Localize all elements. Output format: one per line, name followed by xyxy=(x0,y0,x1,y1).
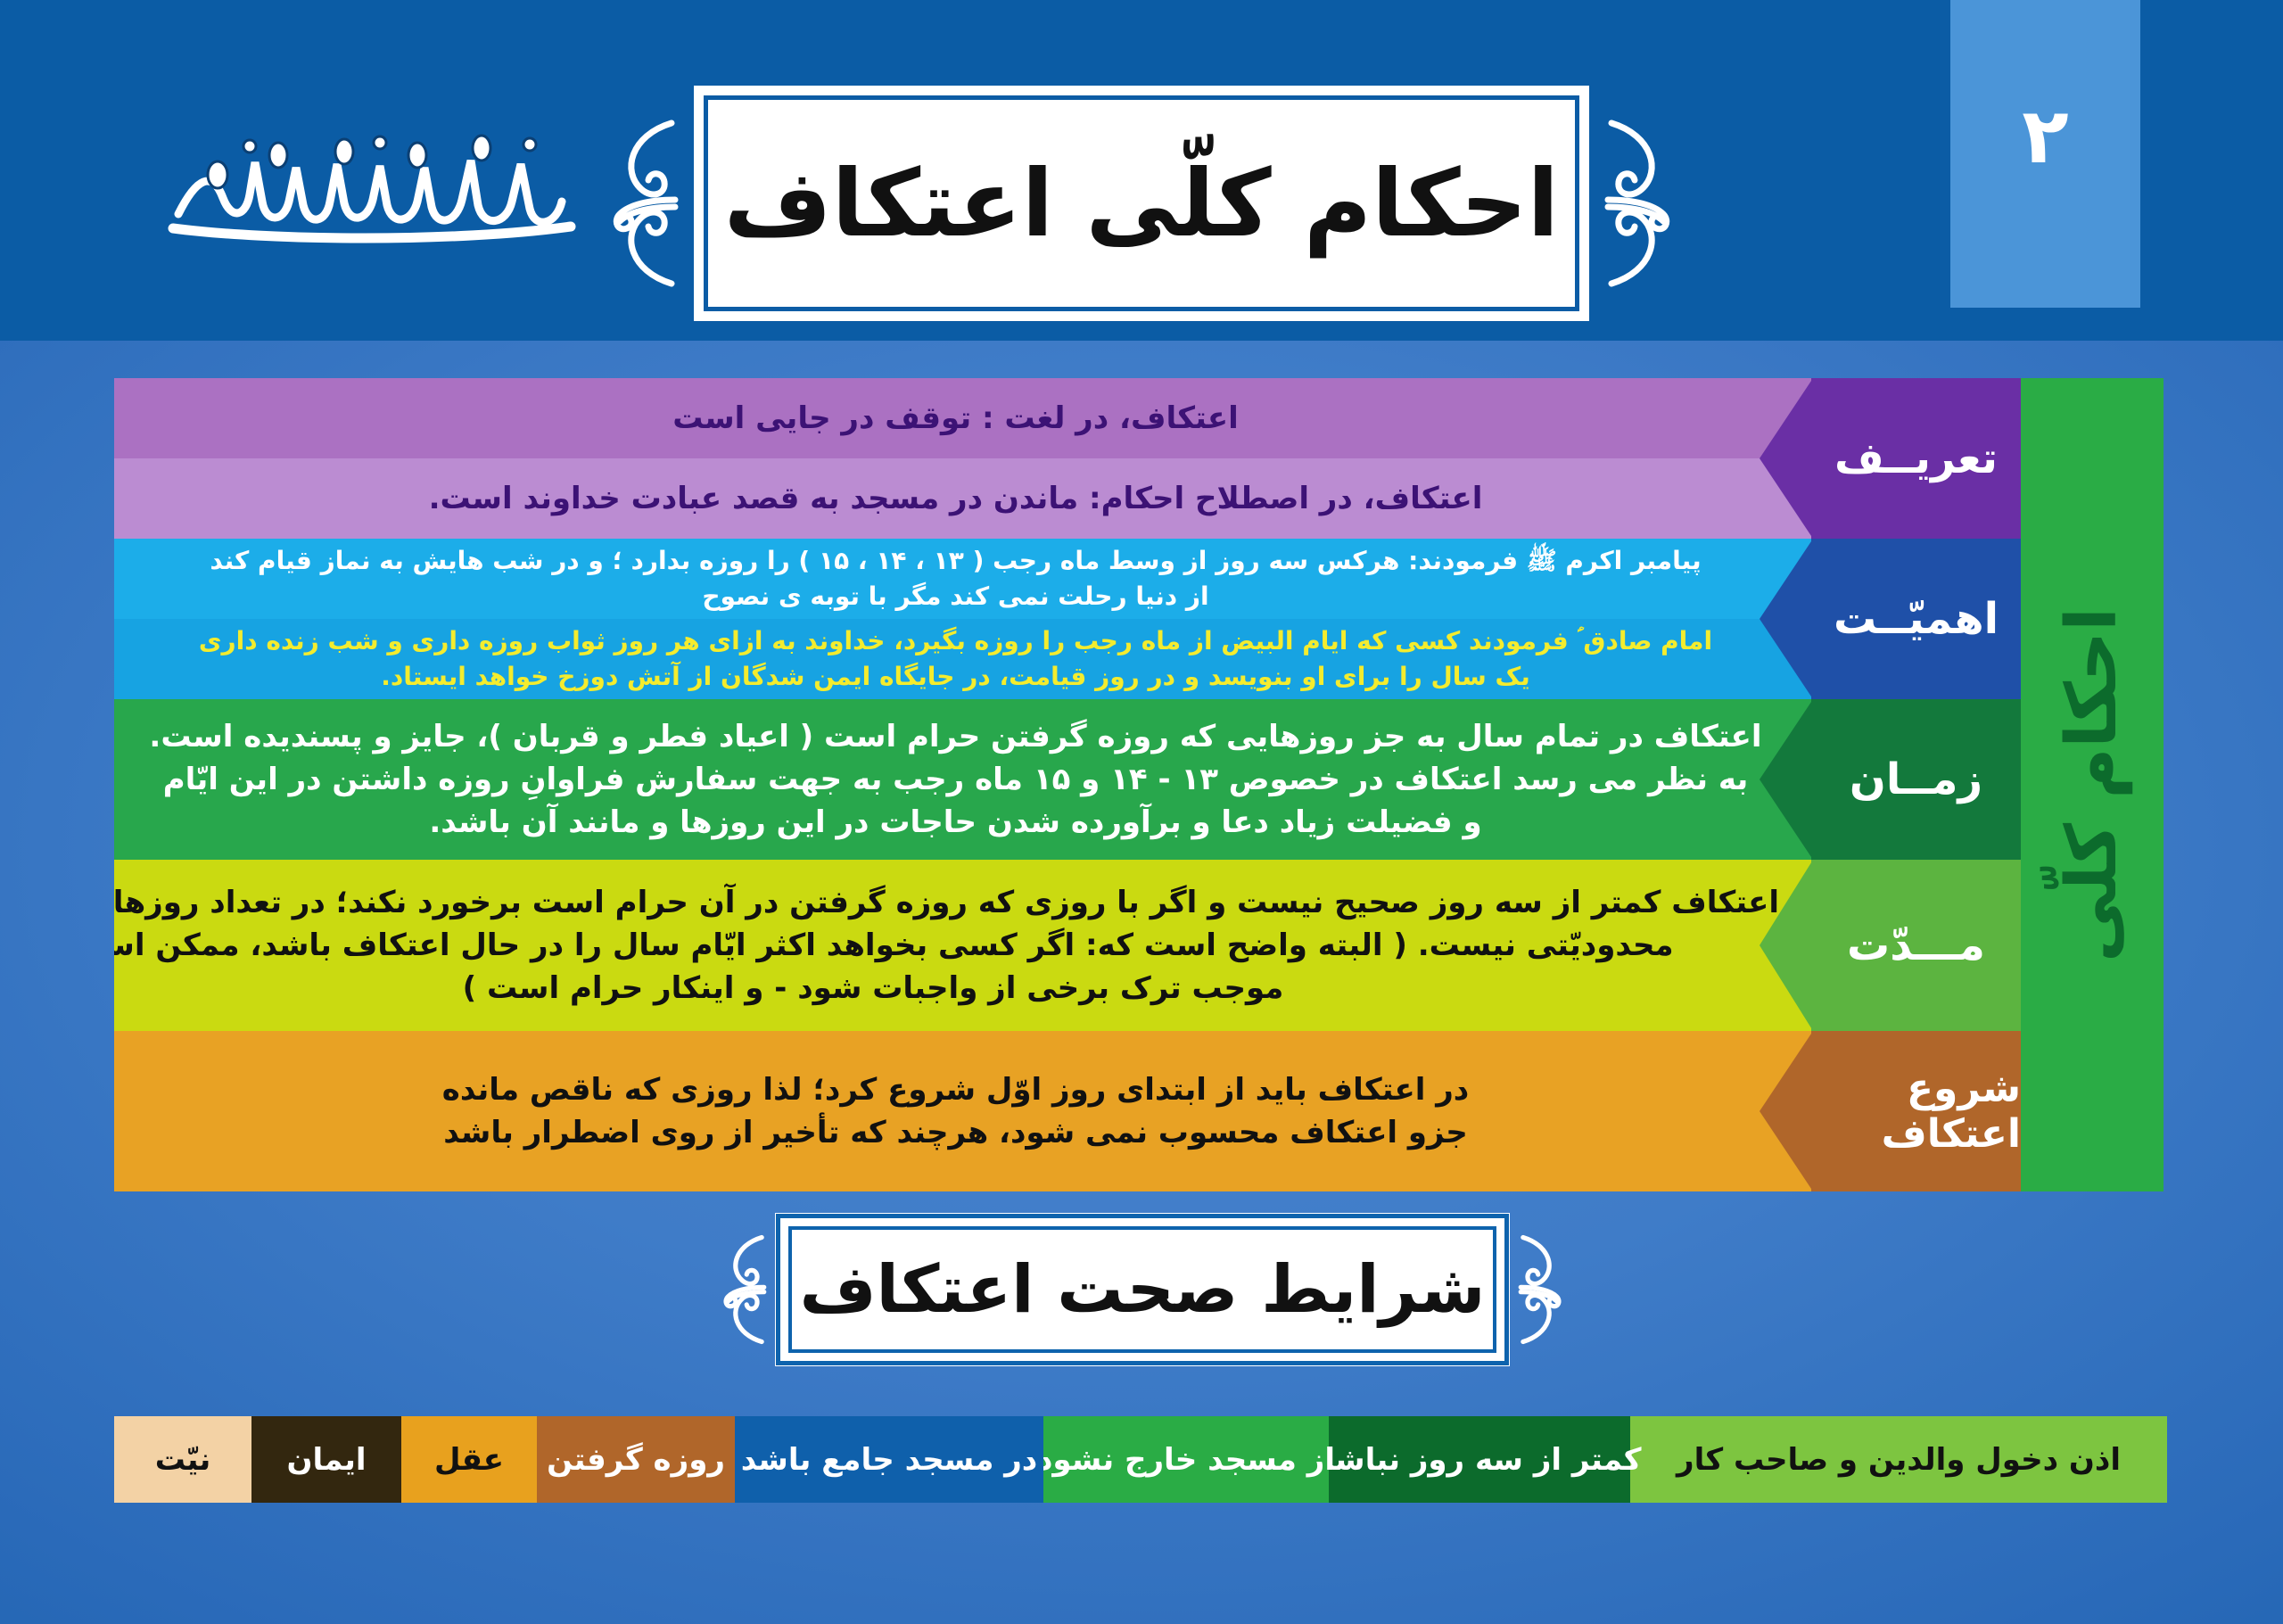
table-row-definition[interactable]: تعریــف اعتکاف، در لغت : توقف در جایی اس… xyxy=(114,378,2021,539)
row-body-importance-top: پیامبر اکرم ﷺ فرمودند: هرکس سه روز از وس… xyxy=(114,539,1811,619)
row-label-duration: مـــدّت xyxy=(1811,860,2021,1031)
condition-chip-no-exit[interactable]: از مسجد خارج نشود xyxy=(1043,1416,1329,1503)
row-line: از دنیا رحلت نمی کند مگر با توبه ی نصوح xyxy=(114,579,1811,614)
condition-label: نیّت xyxy=(155,1442,211,1478)
row-body-definition-top: اعتکاف، در لغت : توقف در جایی است xyxy=(114,378,1811,458)
row-line: و فضیلت زیاد دعا و برآورده شدن حاجات در … xyxy=(114,801,1811,844)
condition-label: ایمان xyxy=(287,1442,367,1478)
condition-chip-iman[interactable]: ایمان xyxy=(251,1416,401,1503)
condition-chip-permission[interactable]: اذن دخول والدین و صاحب کار xyxy=(1630,1416,2167,1503)
row-body-importance: پیامبر اکرم ﷺ فرمودند: هرکس سه روز از وس… xyxy=(114,539,1811,699)
condition-chip-fasting[interactable]: روزه گرفتن xyxy=(537,1416,735,1503)
condition-label: از مسجد خارج نشود xyxy=(1037,1442,1335,1478)
row-body-duration: اعتکاف کمتر از سه روز صحیح نیست و اگر با… xyxy=(114,860,1811,1031)
flourish-left-icon xyxy=(709,1232,779,1348)
row-label-time: زمــان xyxy=(1811,699,2021,860)
main-title-inner: احکام کلّی اعتکاف xyxy=(704,95,1579,311)
row-body-time: اعتکاف در تمام سال به جز روزهایی که روزه… xyxy=(114,699,1811,860)
page-number-badge: ۲ xyxy=(1950,0,2140,308)
row-line: به نظر می رسد اعتکاف در خصوص ۱۳ - ۱۴ و ۱… xyxy=(114,758,1811,801)
subtitle-inner: شرایط صحت اعتکاف xyxy=(788,1226,1496,1353)
row-line: در اعتکاف باید از ابتدای روز اوّل شروع ک… xyxy=(114,1068,1811,1111)
table-rows: تعریــف اعتکاف، در لغت : توقف در جایی اس… xyxy=(114,378,2021,1191)
condition-chip-niyyat[interactable]: نیّت xyxy=(114,1416,251,1503)
row-line: موجب ترک برخی از واجبات شود - و اینکار ح… xyxy=(114,967,1811,1010)
condition-label: در مسجد جامع باشد xyxy=(741,1442,1037,1478)
subtitle-plaque: شرایط صحت اعتکاف xyxy=(780,1218,1504,1361)
row-body-importance-bottom: امام صادق ؑ فرمودند کسی که ایام البیض از… xyxy=(114,619,1811,699)
row-label-start: شروع اعتکاف xyxy=(1811,1031,2021,1191)
row-label-definition: تعریــف xyxy=(1811,378,2021,539)
table-row-start[interactable]: شروع اعتکاف در اعتکاف باید از ابتدای روز… xyxy=(114,1031,2021,1191)
condition-label: روزه گرفتن xyxy=(547,1442,725,1478)
bismillah-calligraphy-icon xyxy=(161,116,589,259)
page-title: احکام کلّی اعتکاف xyxy=(724,149,1559,258)
flourish-right-icon xyxy=(1590,114,1688,293)
row-line: یک سال را برای او بنویسد و در روز قیامت،… xyxy=(114,659,1811,695)
row-line: اعتکاف، در لغت : توقف در جایی است xyxy=(114,397,1811,440)
table-row-importance[interactable]: اهمیّــت پیامبر اکرم ﷺ فرمودند: هرکس سه … xyxy=(114,539,2021,699)
rules-table: احکام کلّی تعریــف اعتکاف، در لغت : توقف… xyxy=(114,378,2163,1191)
flourish-left-icon xyxy=(595,114,693,293)
main-title-plaque: احکام کلّی اعتکاف xyxy=(694,86,1589,321)
condition-chip-aql[interactable]: عقل xyxy=(401,1416,537,1503)
vertical-sidebar: احکام کلّی xyxy=(2021,378,2163,1191)
condition-label: کمتر از سه روز نباشد xyxy=(1318,1442,1642,1478)
row-line: اعتکاف در تمام سال به جز روزهایی که روزه… xyxy=(114,715,1811,758)
row-line: محدودیّتی نیست. ( البته واضح است که: اگر… xyxy=(114,924,1811,967)
page-number: ۲ xyxy=(2022,98,2069,175)
condition-chip-min-days[interactable]: کمتر از سه روز نباشد xyxy=(1329,1416,1630,1503)
vertical-sidebar-label: احکام کلّی xyxy=(2052,607,2132,962)
table-row-duration[interactable]: مـــدّت اعتکاف کمتر از سه روز صحیح نیست … xyxy=(114,860,2021,1031)
poster-page: ۲ احکام کلّی اعتکاف xyxy=(0,0,2283,1624)
row-body-definition-bottom: اعتکاف، در اصطلاح احکام: ماندن در مسجد ب… xyxy=(114,458,1811,539)
condition-label: اذن دخول والدین و صاحب کار xyxy=(1677,1442,2121,1478)
row-body-start: در اعتکاف باید از ابتدای روز اوّل شروع ک… xyxy=(114,1031,1811,1191)
condition-label: عقل xyxy=(434,1442,504,1478)
table-row-time[interactable]: زمــان اعتکاف در تمام سال به جز روزهایی … xyxy=(114,699,2021,860)
row-line: اعتکاف کمتر از سه روز صحیح نیست و اگر با… xyxy=(114,881,1811,924)
row-label-importance: اهمیّــت xyxy=(1811,539,2021,699)
row-line: جزو اعتکاف محسوب نمی شود، هرچند که تأخیر… xyxy=(114,1111,1811,1154)
condition-chip-mosque[interactable]: در مسجد جامع باشد xyxy=(735,1416,1043,1503)
subtitle-text: شرایط صحت اعتکاف xyxy=(800,1251,1486,1328)
row-line: اعتکاف، در اصطلاح احکام: ماندن در مسجد ب… xyxy=(114,477,1811,520)
flourish-right-icon xyxy=(1506,1232,1576,1348)
row-body-definition: اعتکاف، در لغت : توقف در جایی است اعتکاف… xyxy=(114,378,1811,539)
conditions-strip: نیّت ایمان عقل روزه گرفتن در مسجد جامع ب… xyxy=(114,1416,2167,1503)
row-line: امام صادق ؑ فرمودند کسی که ایام البیض از… xyxy=(114,623,1811,659)
row-line: پیامبر اکرم ﷺ فرمودند: هرکس سه روز از وس… xyxy=(114,543,1811,579)
